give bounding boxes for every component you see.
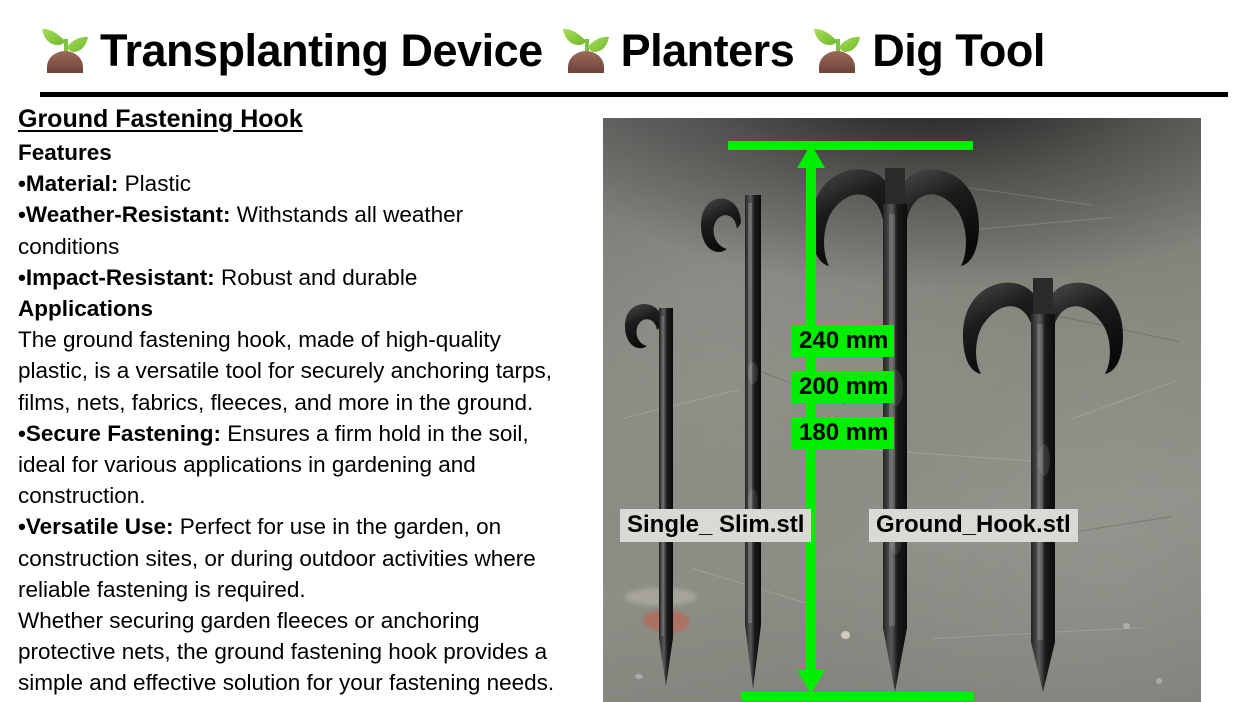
body-line-secure-fastening: •Secure Fastening: Ensures a firm hold i… bbox=[14, 418, 598, 449]
body-line-versatile-use: •Versatile Use: Perfect for use in the g… bbox=[14, 511, 598, 542]
body-line-term: Versatile Use: bbox=[26, 514, 174, 539]
seedling-icon bbox=[559, 21, 613, 79]
body-line-impact-resistant: •Impact-Resistant: Robust and durable bbox=[14, 262, 598, 293]
body-line-applications-heading: Applications bbox=[14, 293, 598, 324]
body-line-versatile-use-l3: reliable fastening is required. bbox=[14, 574, 598, 605]
page-title: Ground Fastening Hook bbox=[18, 105, 598, 133]
body-line-text: reliable fastening is required. bbox=[18, 577, 306, 602]
body-line-text: Whether securing garden fleeces or ancho… bbox=[18, 608, 480, 633]
header-title-transplanting-device: Transplanting Device bbox=[100, 28, 543, 73]
body-line-closing-l2: protective nets, the ground fastening ho… bbox=[14, 636, 598, 667]
measurement-top-rule bbox=[728, 141, 973, 150]
peg-ground-hook-short bbox=[955, 270, 1127, 702]
arrow-up-icon bbox=[797, 144, 825, 168]
body-line-term: Applications bbox=[18, 296, 153, 321]
seedling-icon bbox=[38, 21, 92, 79]
header-divider bbox=[40, 92, 1228, 97]
document-text-column: Ground Fastening Hook Features•Material:… bbox=[14, 105, 598, 702]
header-group-planters[interactable]: Planters bbox=[559, 21, 795, 79]
body-line-text: The ground fastening hook, made of high-… bbox=[18, 327, 501, 352]
body-line-text: simple and effective solution for your f… bbox=[18, 670, 554, 695]
header-title-planters: Planters bbox=[621, 28, 795, 73]
body-line-text: protective nets, the ground fastening ho… bbox=[18, 639, 547, 664]
body-line-term: Secure Fastening: bbox=[26, 421, 221, 446]
bullet-icon: • bbox=[18, 421, 26, 446]
body-line-text: Ensures a firm hold in the soil, bbox=[221, 421, 529, 446]
document-body: Features•Material: Plastic•Weather-Resis… bbox=[14, 137, 598, 699]
body-line-term: Impact-Resistant: bbox=[26, 265, 215, 290]
header-bar: Transplanting Device Planters bbox=[0, 0, 1254, 96]
body-line-text: construction. bbox=[18, 483, 146, 508]
body-line-closing-l3: simple and effective solution for your f… bbox=[14, 667, 598, 698]
file-caption-single-slim: Single_ Slim.stl bbox=[620, 509, 811, 542]
measurement-bottom-rule bbox=[741, 692, 974, 701]
peg-single-slim-tall bbox=[689, 173, 779, 701]
body-line-versatile-use-l2: construction sites, or during outdoor ac… bbox=[14, 543, 598, 574]
body-line-term: Material: bbox=[26, 171, 119, 196]
body-line-term: Features bbox=[18, 140, 112, 165]
body-line-text: Withstands all weather bbox=[231, 202, 464, 227]
body-line-text: construction sites, or during outdoor ac… bbox=[18, 546, 536, 571]
header-title-dig-tool: Dig Tool bbox=[872, 28, 1045, 73]
body-line-text: Robust and durable bbox=[215, 265, 418, 290]
header-title-row: Transplanting Device Planters bbox=[38, 14, 1061, 86]
measurement-label-200: 200 mm bbox=[791, 371, 894, 403]
body-line-apps-p1-l3: films, nets, fabrics, fleeces, and more … bbox=[14, 387, 598, 418]
body-line-text: Plastic bbox=[118, 171, 191, 196]
bullet-icon: • bbox=[18, 265, 26, 290]
header-group-dig-tool[interactable]: Dig Tool bbox=[810, 21, 1045, 79]
surface-speck bbox=[1156, 678, 1162, 684]
header-group-transplanting-device[interactable]: Transplanting Device bbox=[38, 21, 543, 79]
body-line-features-heading: Features bbox=[14, 137, 598, 168]
body-line-material: •Material: Plastic bbox=[14, 168, 598, 199]
body-line-weather-resistant: •Weather-Resistant: Withstands all weath… bbox=[14, 199, 598, 230]
body-line-closing-l1: Whether securing garden fleeces or ancho… bbox=[14, 605, 598, 636]
body-line-text: films, nets, fabrics, fleeces, and more … bbox=[18, 390, 533, 415]
body-line-text: conditions bbox=[18, 234, 119, 259]
file-caption-ground-hook: Ground_Hook.stl bbox=[869, 509, 1078, 542]
measurement-label-240: 240 mm bbox=[791, 325, 894, 357]
peg-single-slim-small bbox=[615, 286, 693, 698]
bullet-icon: • bbox=[18, 171, 26, 196]
body-line-apps-p1-l2: plastic, is a versatile tool for securel… bbox=[14, 355, 598, 386]
arrow-down-icon bbox=[797, 670, 825, 694]
body-line-text: Perfect for use in the garden, on bbox=[173, 514, 501, 539]
seedling-icon bbox=[810, 21, 864, 79]
bullet-icon: • bbox=[18, 202, 26, 227]
body-line-apps-p1-l1: The ground fastening hook, made of high-… bbox=[14, 324, 598, 355]
bullet-icon: • bbox=[18, 514, 26, 539]
body-line-text: ideal for various applications in garden… bbox=[18, 452, 476, 477]
product-photo: 240 mm 200 mm 180 mm Single_ Slim.stl Gr… bbox=[603, 118, 1201, 702]
body-line-secure-fastening-l3: construction. bbox=[14, 480, 598, 511]
body-line-text: plastic, is a versatile tool for securel… bbox=[18, 358, 552, 383]
body-line-secure-fastening-l2: ideal for various applications in garden… bbox=[14, 449, 598, 480]
measurement-label-180: 180 mm bbox=[791, 417, 894, 449]
body-line-weather-resistant-cont: conditions bbox=[14, 231, 598, 262]
body-line-term: Weather-Resistant: bbox=[26, 202, 231, 227]
